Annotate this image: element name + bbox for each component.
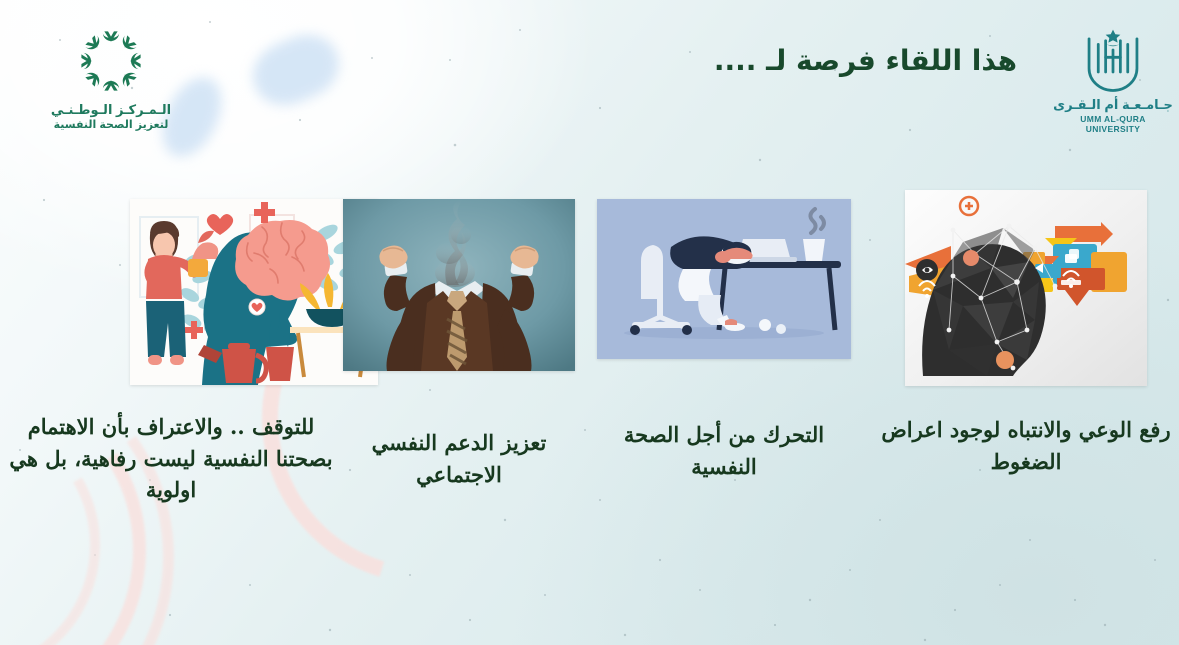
polygonal-head-network-icons-graphic (905, 190, 1147, 386)
content-card-3: التحرك من أجل الصحة النفسية (588, 199, 860, 482)
national-center-name-arabic: الـمـركـز الـوطـنـي (46, 102, 176, 118)
burnout-smoking-head-photo (343, 199, 575, 371)
decorative-blue-blob-large (243, 24, 348, 115)
exhausted-person-at-desk-illustration (597, 199, 851, 359)
umm-al-qura-name-arabic: جـامـعـة أم الـقـرى (1052, 97, 1174, 113)
national-center-tagline-arabic: لتعزيز الصحة النفسية (46, 118, 176, 132)
umm-al-qura-emblem-icon (1076, 26, 1150, 96)
card-1-caption: للتوقف .. والاعتراف بأن الاهتمام بصحتنا … (6, 411, 336, 506)
presentation-slide: الـمـركـز الـوطـنـي لتعزيز الصحة النفسية… (0, 0, 1179, 645)
content-card-2: تعزيز الدعم النفسي الاجتماعي (328, 199, 590, 490)
card-4-caption: رفع الوعي والانتباه لوجود اعراض الضغوط (878, 414, 1174, 477)
card-2-caption: تعزيز الدعم النفسي الاجتماعي (328, 427, 590, 490)
slide-headline: هذا اللقاء فرصة لـ .... (714, 44, 1017, 77)
content-card-1: للتوقف .. والاعتراف بأن الاهتمام بصحتنا … (6, 199, 336, 506)
umm-al-qura-name-english: UMM AL-QURA UNIVERSITY (1052, 114, 1174, 134)
card-3-caption: التحرك من أجل الصحة النفسية (588, 419, 860, 482)
national-center-logo: الـمـركـز الـوطـنـي لتعزيز الصحة النفسية (46, 24, 176, 133)
umm-al-qura-logo: جـامـعـة أم الـقـرى UMM AL-QURA UNIVERSI… (1052, 26, 1174, 134)
national-center-emblem-icon (63, 24, 159, 98)
content-card-4: رفع الوعي والانتباه لوجود اعراض الضغوط (878, 190, 1174, 477)
